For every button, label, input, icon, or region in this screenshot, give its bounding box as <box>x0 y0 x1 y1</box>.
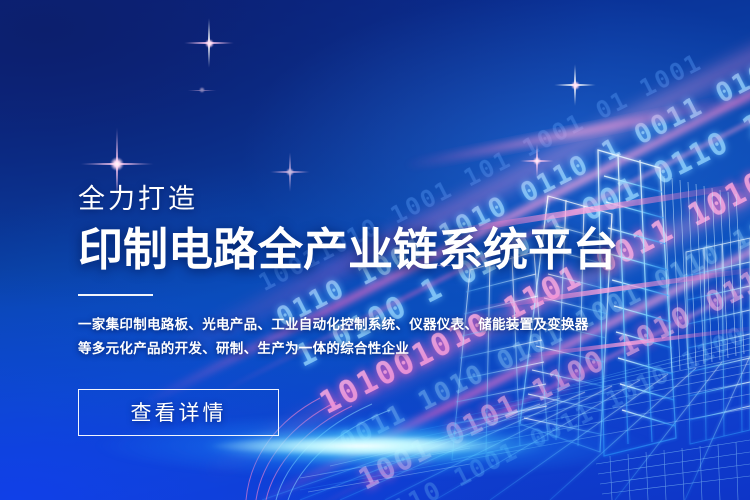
hero-headline: 印制电路全产业链系统平台 <box>78 227 598 274</box>
hero-blurb-line-2: 等多元化产品的开发、研制、生产为一体的综合性企业 <box>78 337 598 361</box>
hero-eyebrow: 全力打造 <box>78 186 598 213</box>
light-burst-core <box>210 436 510 456</box>
hero-blurb-line-1: 一家集印制电路板、光电产品、工业自动化控制系统、仪器仪表、储能装置及变换器 <box>78 313 598 337</box>
view-details-button[interactable]: 查看详情 <box>78 389 279 436</box>
divider-rule <box>78 294 153 296</box>
hero-content: 全力打造 印制电路全产业链系统平台 一家集印制电路板、光电产品、工业自动化控制系… <box>78 186 598 436</box>
hero-banner: 10011010 1001 101 1001 01 1001 0110 1001… <box>0 0 750 500</box>
hero-blurb: 一家集印制电路板、光电产品、工业自动化控制系统、仪器仪表、储能装置及变换器 等多… <box>78 313 598 361</box>
